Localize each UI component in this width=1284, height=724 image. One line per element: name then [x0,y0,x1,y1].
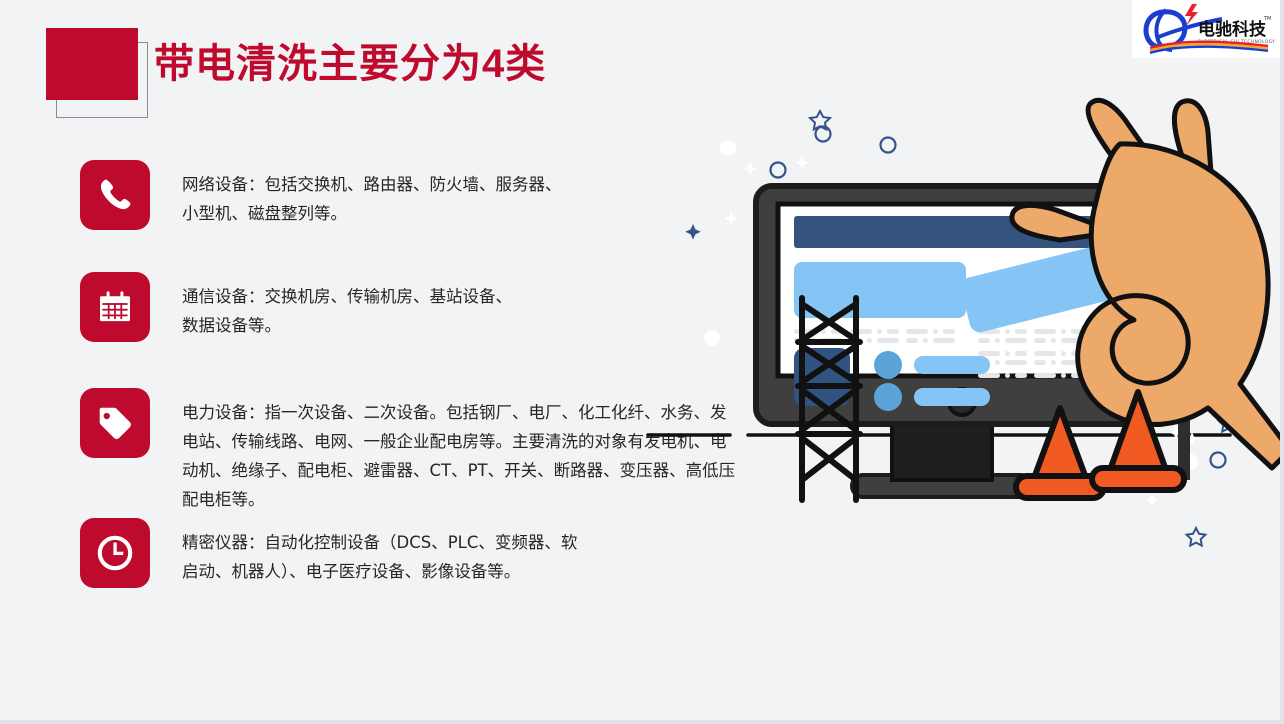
company-logo: 电驰科技 ELECTRICAL CHI TECHNOLOGY TM [1132,0,1280,58]
monitor-hand-illustration [630,90,1284,590]
tag-icon-tile [80,388,150,458]
tag-icon [96,404,134,442]
illustration-svg [630,90,1284,590]
list-item-text: 精密仪器：自动化控制设备（DCS、PLC、变频器、软 启动、机器人）、电子医疗设… [182,518,577,586]
list-item[interactable]: 网络设备：包括交换机、路由器、防火墙、服务器、 小型机、磁盘整列等。 [80,160,562,230]
phone-icon [96,176,134,214]
list-item-line: 精密仪器：自动化控制设备（DCS、PLC、变频器、软 [182,528,577,557]
title-text: 带电清洗主要分为4类 [154,38,546,90]
list-item-text: 通信设备：交换机房、传输机房、基站设备、 数据设备等。 [182,272,512,340]
phone-icon-tile [80,160,150,230]
svg-text:电驰科技: 电驰科技 [1198,19,1267,40]
screen-hero-block [794,262,966,318]
list-item-line: 网络设备：包括交换机、路由器、防火墙、服务器、 [182,170,562,199]
title-filled-square [46,28,138,100]
list-item-line: 通信设备：交换机房、传输机房、基站设备、 [182,282,512,311]
list-item-line: 数据设备等。 [182,311,512,340]
list-item-line: 小型机、磁盘整列等。 [182,199,562,228]
list-item-text: 网络设备：包括交换机、路由器、防火墙、服务器、 小型机、磁盘整列等。 [182,160,562,228]
calendar-icon [97,289,133,325]
list-item[interactable]: 通信设备：交换机房、传输机房、基站设备、 数据设备等。 [80,272,512,342]
svg-text:TM: TM [1263,16,1271,22]
calendar-icon-tile [80,272,150,342]
clock-icon-tile [80,518,150,588]
logo-mark-icon: 电驰科技 ELECTRICAL CHI TECHNOLOGY TM [1136,2,1276,56]
list-item[interactable]: 精密仪器：自动化控制设备（DCS、PLC、变频器、软 启动、机器人）、电子医疗设… [80,518,577,588]
clock-icon [96,534,134,572]
list-item-line: 启动、机器人）、电子医疗设备、影像设备等。 [182,557,577,586]
slide: 电驰科技 ELECTRICAL CHI TECHNOLOGY TM 带电清洗主要… [0,0,1284,724]
